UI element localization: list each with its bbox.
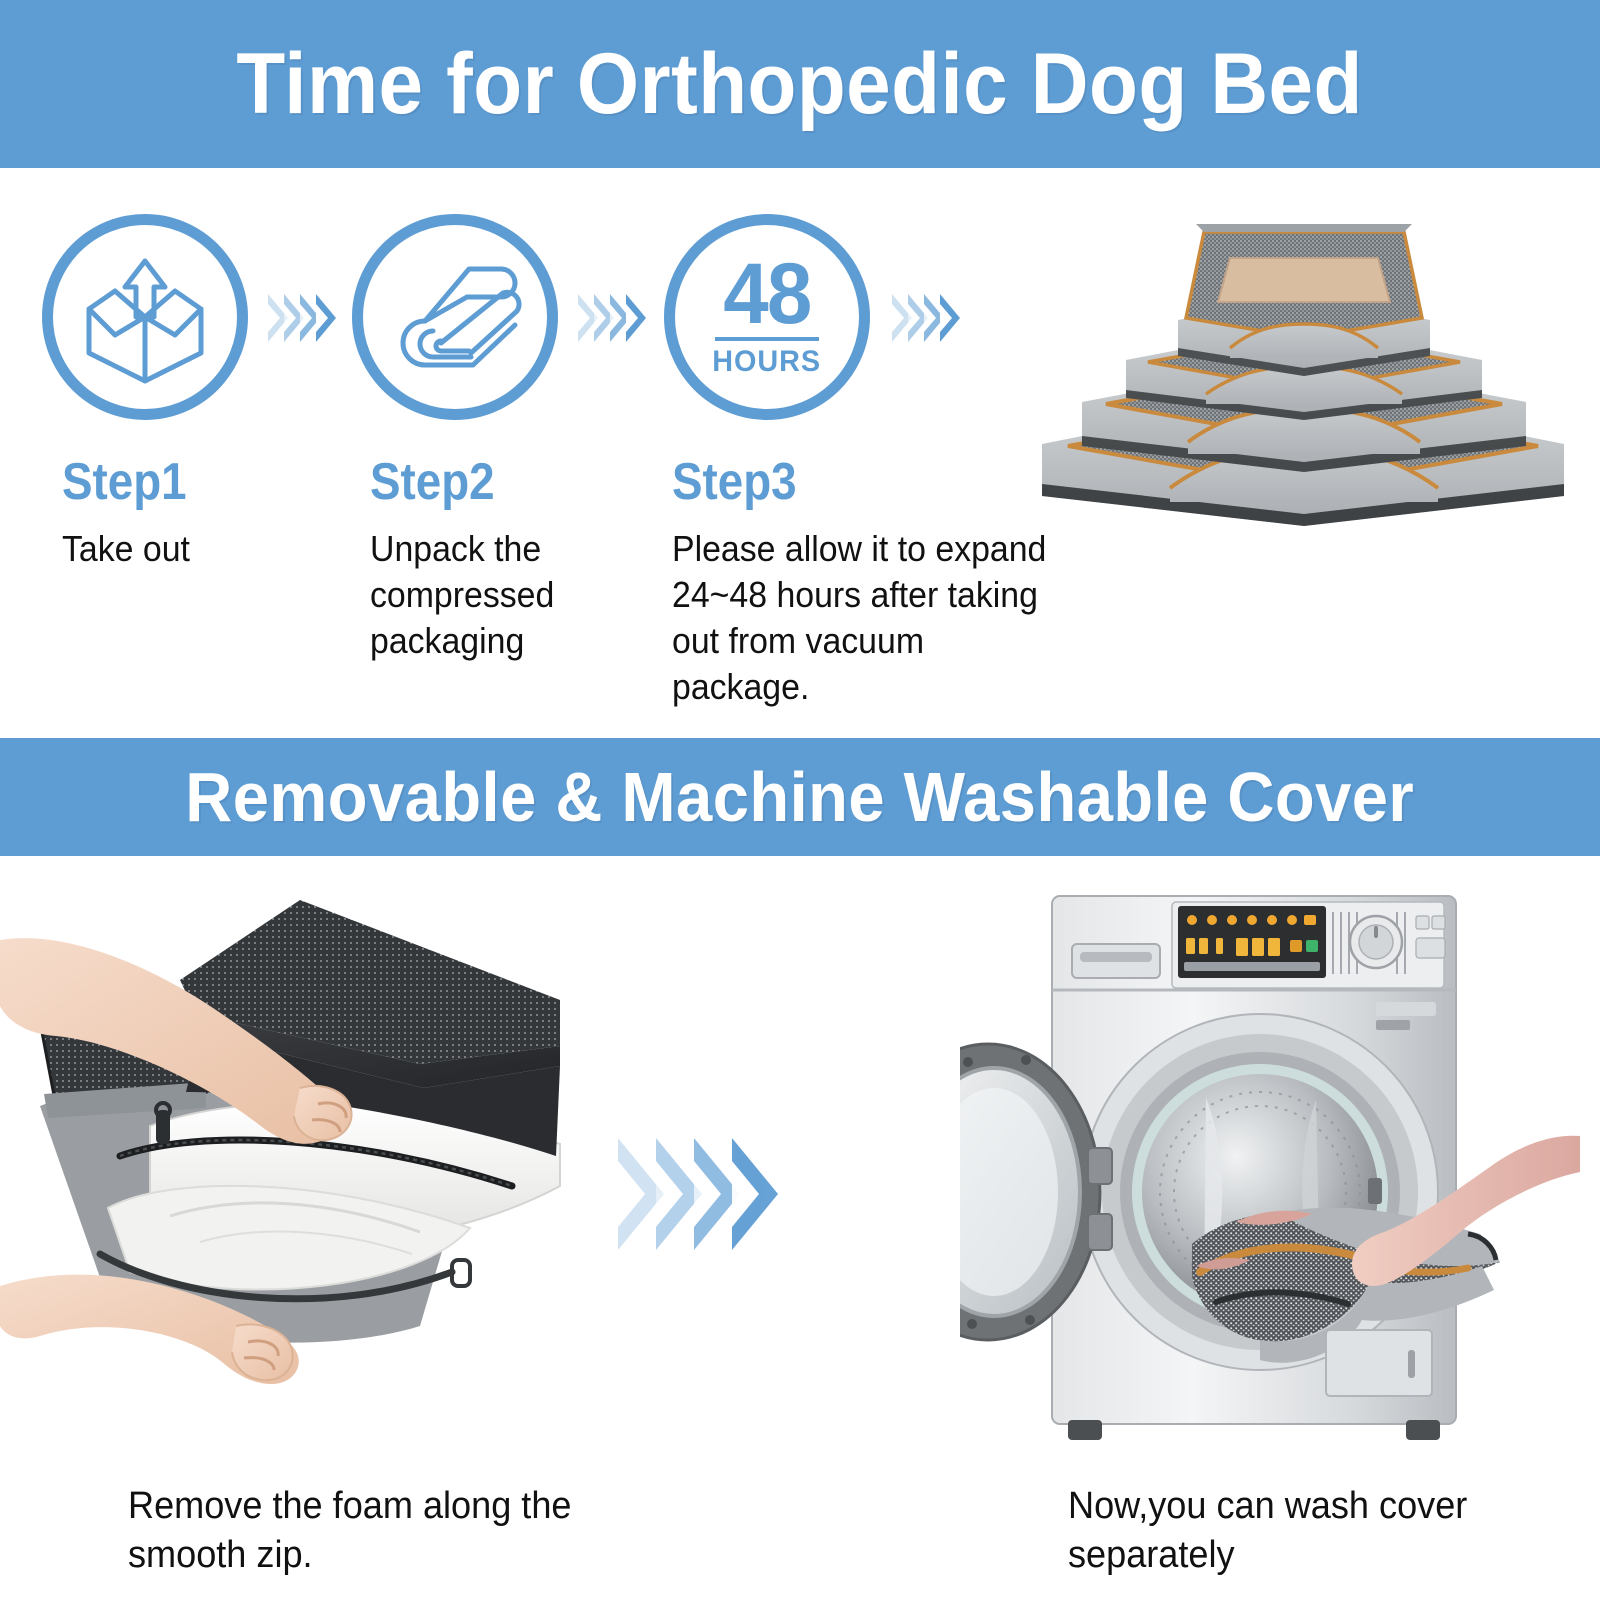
step1-title: Step1 bbox=[62, 456, 308, 508]
arrow-step1-to-step2 bbox=[268, 294, 332, 342]
hours-number: 48 bbox=[723, 255, 810, 334]
right-caption: Now,you can wash cover separately bbox=[1068, 1482, 1496, 1581]
step1-icon-circle bbox=[42, 214, 248, 420]
chevron-right-icon bbox=[316, 294, 336, 342]
step2-title: Step2 bbox=[370, 456, 599, 508]
washing-machine-image bbox=[960, 862, 1580, 1462]
step3-icon-circle: 48 HOURS bbox=[664, 214, 870, 420]
step2-block: Step2 Unpack the compressed packaging bbox=[370, 456, 630, 664]
step2-description: Unpack the compressed packaging bbox=[370, 526, 614, 664]
open-box-arrow-up-icon bbox=[53, 225, 237, 409]
arrow-foam-to-washer bbox=[618, 1138, 770, 1250]
chevron-right-icon bbox=[940, 294, 960, 342]
step3-description: Please allow it to expand 24~48 hours af… bbox=[672, 526, 1067, 710]
top-banner-title: Time for Orthopedic Dog Bed bbox=[237, 35, 1363, 134]
stacked-dog-beds-image bbox=[1008, 196, 1592, 536]
bottom-banner-title: Removable & Machine Washable Cover bbox=[186, 757, 1415, 837]
foam-removal-image bbox=[0, 856, 600, 1456]
hands-removing-foam-illustration bbox=[0, 856, 600, 1456]
folded-blanket-icon bbox=[363, 225, 547, 409]
step1-description: Take out bbox=[62, 526, 325, 572]
arrow-step3-to-product bbox=[892, 294, 956, 342]
bottom-banner: Removable & Machine Washable Cover bbox=[0, 738, 1600, 856]
washing-machine-illustration bbox=[960, 862, 1580, 1462]
dog-bed-stack-illustration bbox=[1008, 196, 1592, 536]
arrow-step2-to-step3 bbox=[578, 294, 642, 342]
infographic-page: Time for Orthopedic Dog Bed bbox=[0, 0, 1600, 1600]
dog-bed-s bbox=[1178, 224, 1430, 376]
steps-section: 48 HOURS Step1 Take out Step2 Unpack the… bbox=[0, 168, 1000, 738]
step-icon-row: 48 HOURS bbox=[0, 196, 1000, 446]
chevron-right-icon bbox=[732, 1138, 778, 1250]
step1-block: Step1 Take out bbox=[62, 456, 342, 572]
hours-label: HOURS bbox=[713, 345, 822, 379]
48-hours-badge-icon: 48 HOURS bbox=[675, 225, 859, 409]
left-caption: Remove the foam along the smooth zip. bbox=[128, 1482, 622, 1581]
step2-icon-circle bbox=[352, 214, 558, 420]
chevron-right-icon bbox=[626, 294, 646, 342]
step3-title: Step3 bbox=[672, 456, 1042, 508]
top-banner: Time for Orthopedic Dog Bed bbox=[0, 0, 1600, 168]
